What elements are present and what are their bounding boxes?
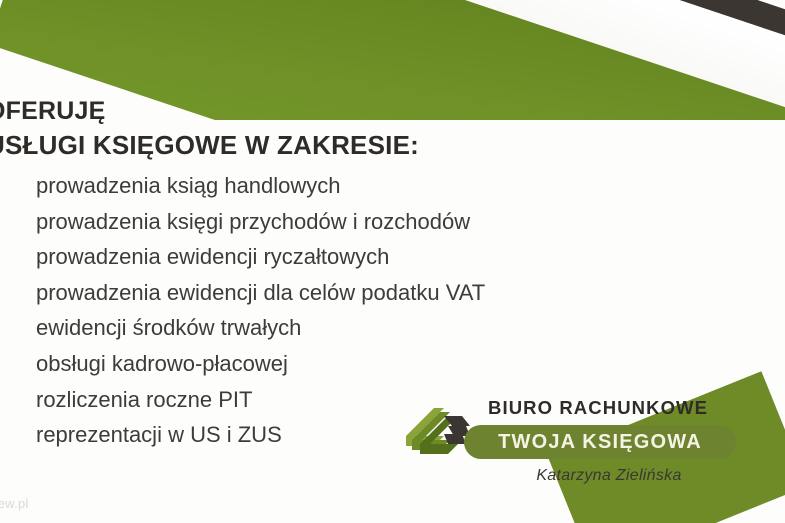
list-item: ewidencji środków trwałych <box>36 310 696 346</box>
stacked-ledger-books-icon <box>404 402 472 462</box>
owner-signature: Katarzyna Zielińska <box>478 467 754 485</box>
brand-logo-text: BIURO RACHUNKOWE TWOJA KSIĘGOWA Katarzyn… <box>478 396 754 485</box>
watermark: szew.pl <box>0 496 29 511</box>
list-item: prowadzenia ewidencji dla celów podatku … <box>36 275 696 311</box>
list-item: prowadzenia ksiąg handlowych <box>36 168 696 204</box>
poster-canvas: OFERUJĘ USŁUGI KSIĘGOWE W ZAKRESIE: prow… <box>0 0 785 523</box>
brand-name: TWOJA KSIĘGOWA <box>498 431 702 454</box>
list-item: prowadzenia ewidencji ryczałtowych <box>36 239 696 275</box>
page-title: OFERUJĘ USŁUGI KSIĘGOWE W ZAKRESIE: <box>0 94 606 162</box>
headline-line-1: OFERUJĘ <box>0 94 606 128</box>
brand-name-pill: TWOJA KSIĘGOWA <box>464 425 736 459</box>
list-item: prowadzenia księgi przychodów i rozchodó… <box>36 204 696 240</box>
brand-title: BIURO RACHUNKOWE <box>478 396 754 420</box>
list-item: obsługi kadrowo-płacowej <box>36 346 696 382</box>
brand-logo: BIURO RACHUNKOWE TWOJA KSIĘGOWA Katarzyn… <box>404 396 754 514</box>
headline-line-2: USŁUGI KSIĘGOWE W ZAKRESIE: <box>0 128 606 162</box>
